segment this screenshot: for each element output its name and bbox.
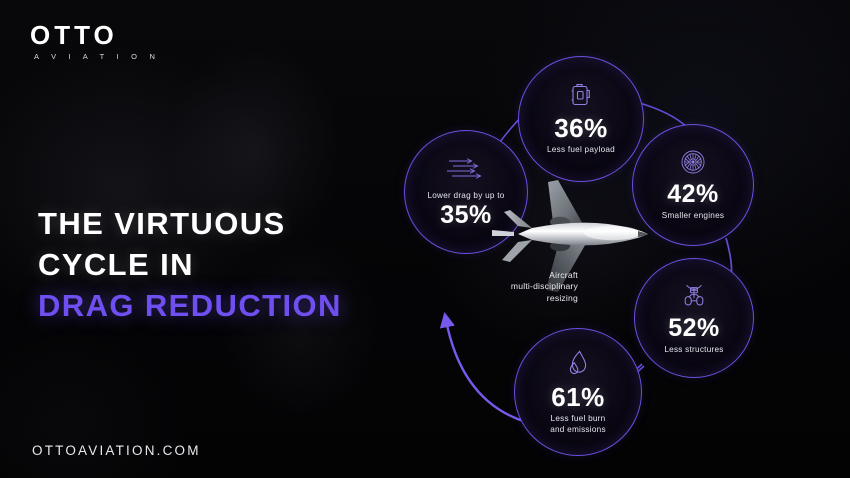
cycle-node-fuel-burn[interactable]: 61% Less fuel burn and emissions <box>514 328 642 456</box>
airflow-lines-icon <box>445 156 487 189</box>
center-label-line-2: multi-disciplinary <box>468 281 578 292</box>
center-label-line-3: resizing <box>468 293 578 304</box>
cycle-node-value: 61% <box>551 384 605 410</box>
cycle-node-caption: Less structures <box>664 345 723 356</box>
flame-icon <box>566 349 590 382</box>
cycle-node-value: 35% <box>440 203 492 228</box>
cycle-node-caption: Smaller engines <box>662 211 724 222</box>
logo-wordmark: OTTO <box>30 22 160 48</box>
cycle-node-value: 52% <box>668 316 720 341</box>
center-label: Aircraft multi-disciplinary resizing <box>468 270 578 304</box>
logo-tagline: A V I A T I O N <box>30 52 160 61</box>
headline-line-3: DRAG REDUCTION <box>38 285 342 326</box>
virtuous-cycle-diagram: 36% Less fuel payload <box>390 30 790 470</box>
turbofan-engine-icon <box>680 149 706 180</box>
cycle-node-value: 42% <box>667 182 719 207</box>
headline-line-2: CYCLE IN <box>38 244 342 285</box>
cycle-node-value: 36% <box>554 115 608 141</box>
website-url: OTTOAVIATION.COM <box>32 443 201 458</box>
fuel-can-icon <box>570 82 592 113</box>
cycle-node-fuel-payload[interactable]: 36% Less fuel payload <box>518 56 644 182</box>
headline-line-1: THE VIRTUOUS <box>38 203 342 244</box>
cycle-node-caption-line1: Less fuel burn <box>551 414 606 425</box>
page-title: THE VIRTUOUS CYCLE IN DRAG REDUCTION <box>38 203 342 327</box>
cycle-node-caption: Less fuel payload <box>547 145 615 156</box>
center-label-line-1: Aircraft <box>468 270 578 281</box>
otto-aviation-logo: OTTO A V I A T I O N <box>30 22 160 61</box>
landing-gear-icon <box>680 281 708 314</box>
slide-canvas: OTTO A V I A T I O N THE VIRTUOUS CYCLE … <box>0 0 850 478</box>
cycle-node-caption-line2: and emissions <box>550 425 606 436</box>
